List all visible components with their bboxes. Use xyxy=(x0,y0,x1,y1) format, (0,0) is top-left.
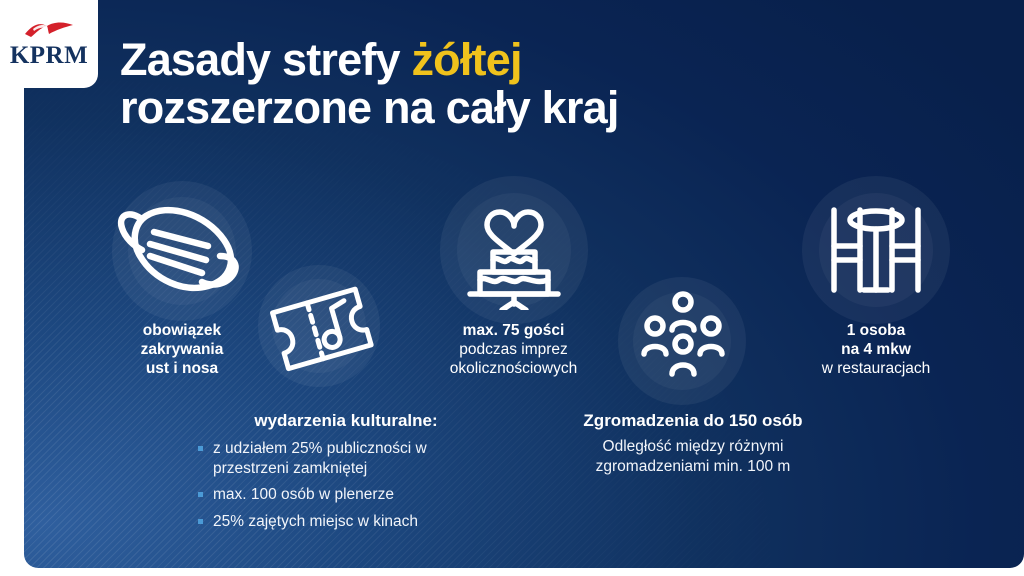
gatherings-heading: Zgromadzenia do 150 osób xyxy=(528,410,858,432)
cake-caption-line-3: okolicznościowych xyxy=(406,360,621,379)
mask-caption-line-2: zakrywania xyxy=(92,341,272,360)
mask-caption: obowiązek zakrywania ust i nosa xyxy=(92,322,272,379)
kprm-logo: KPRM xyxy=(0,0,98,88)
culture-events-bullet-list: z udziałem 25% publiczności w przestrzen… xyxy=(196,439,496,531)
restaurant-caption-line-1: 1 osoba xyxy=(776,322,976,341)
restaurant-caption-line-2: na 4 mkw xyxy=(776,341,976,360)
mask-caption-line-3: ust i nosa xyxy=(92,360,272,379)
cake-caption-line-2: podczas imprez xyxy=(406,341,621,360)
page-title: Zasady strefy żółtej rozszerzone na cały… xyxy=(120,36,920,132)
cake-caption: max. 75 gości podczas imprez okolicznośc… xyxy=(406,322,621,379)
group-of-people-icon xyxy=(634,288,732,388)
gatherings-line-2: Odległość między różnymi xyxy=(528,437,858,457)
cake-caption-line-1: max. 75 gości xyxy=(406,322,621,341)
list-item: max. 100 osób w plenerze xyxy=(196,485,496,505)
headline-line-1: Zasady strefy żółtej xyxy=(120,36,920,84)
headline-line-2: rozszerzone na cały kraj xyxy=(120,84,920,132)
wedding-cake-icon xyxy=(456,190,572,310)
ticket-music-icon xyxy=(262,276,380,376)
headline-highlight-zolte: żółtej xyxy=(411,34,521,85)
mask-caption-line-1: obowiązek xyxy=(92,322,272,341)
face-mask-icon xyxy=(110,194,250,306)
list-item: z udziałem 25% publiczności w przestrzen… xyxy=(196,439,496,478)
infographic-canvas: KPRM Zasady strefy żółtej rozszerzone na… xyxy=(0,0,1024,576)
culture-events-block: wydarzenia kulturalne: z udziałem 25% pu… xyxy=(196,410,496,538)
culture-events-heading: wydarzenia kulturalne: xyxy=(196,410,496,432)
polish-flag-emblem-icon xyxy=(23,21,75,41)
headline-line-1-a: Zasady strefy xyxy=(120,34,411,85)
gatherings-line-3: zgromadzeniami min. 100 m xyxy=(528,457,858,477)
logo-text: KPRM xyxy=(10,43,88,68)
table-and-chairs-icon xyxy=(812,198,940,302)
restaurant-caption-line-3: w restauracjach xyxy=(776,360,976,379)
list-item: 25% zajętych miejsc w kinach xyxy=(196,512,496,532)
gatherings-block: Zgromadzenia do 150 osób Odległość międz… xyxy=(528,410,858,477)
restaurant-caption: 1 osoba na 4 mkw w restauracjach xyxy=(776,322,976,379)
